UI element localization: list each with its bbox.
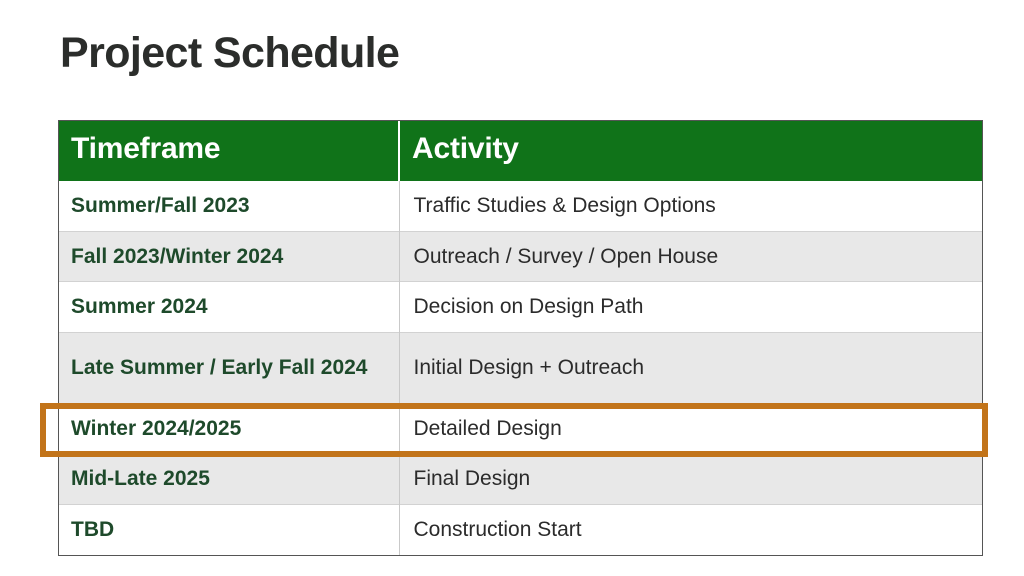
column-header-timeframe: Timeframe xyxy=(59,121,399,181)
table-row: Fall 2023/Winter 2024Outreach / Survey /… xyxy=(59,231,982,281)
cell-activity: Decision on Design Path xyxy=(399,282,982,332)
cell-activity: Outreach / Survey / Open House xyxy=(399,231,982,281)
cell-timeframe: Late Summer / Early Fall 2024 xyxy=(59,332,399,403)
table-row: Mid-Late 2025Final Design xyxy=(59,454,982,504)
table-row: TBDConstruction Start xyxy=(59,505,982,555)
cell-activity: Initial Design + Outreach xyxy=(399,332,982,403)
cell-timeframe: Summer 2024 xyxy=(59,282,399,332)
page-title: Project Schedule xyxy=(60,30,399,77)
table-row: Summer/Fall 2023Traffic Studies & Design… xyxy=(59,181,982,231)
table-row: Summer 2024Decision on Design Path xyxy=(59,282,982,332)
table-body: Summer/Fall 2023Traffic Studies & Design… xyxy=(59,181,982,555)
cell-timeframe: Winter 2024/2025 xyxy=(59,404,399,454)
schedule-table: Timeframe Activity Summer/Fall 2023Traff… xyxy=(59,121,982,555)
cell-activity: Detailed Design xyxy=(399,404,982,454)
cell-activity: Construction Start xyxy=(399,505,982,555)
cell-timeframe: Summer/Fall 2023 xyxy=(59,181,399,231)
table-row: Late Summer / Early Fall 2024Initial Des… xyxy=(59,332,982,403)
cell-timeframe: Fall 2023/Winter 2024 xyxy=(59,231,399,281)
table-row: Winter 2024/2025Detailed Design xyxy=(59,404,982,454)
schedule-table-container: Timeframe Activity Summer/Fall 2023Traff… xyxy=(58,120,983,556)
cell-activity: Final Design xyxy=(399,454,982,504)
cell-timeframe: Mid-Late 2025 xyxy=(59,454,399,504)
cell-timeframe: TBD xyxy=(59,505,399,555)
cell-activity: Traffic Studies & Design Options xyxy=(399,181,982,231)
column-header-activity: Activity xyxy=(399,121,982,181)
table-header-row: Timeframe Activity xyxy=(59,121,982,181)
table-head: Timeframe Activity xyxy=(59,121,982,181)
